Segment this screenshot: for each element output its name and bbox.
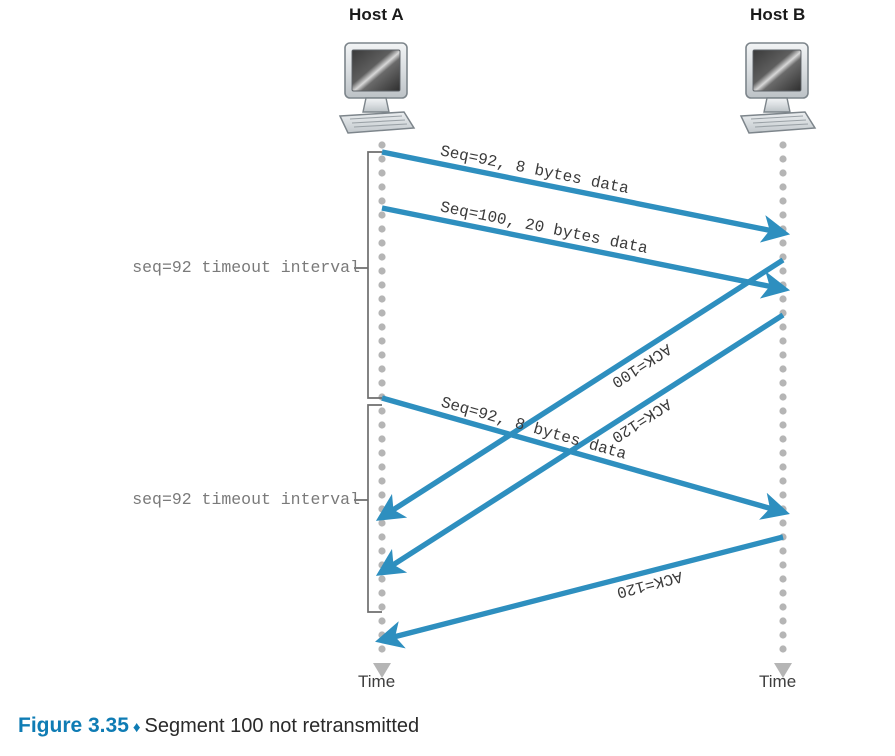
sequence-diagram bbox=[0, 0, 895, 756]
figure-title: Segment 100 not retransmitted bbox=[145, 715, 420, 737]
figure-caption: Figure 3.35♦Segment 100 not retransmitte… bbox=[18, 714, 419, 738]
timeout-interval-label-1: seq=92 timeout interval bbox=[70, 258, 360, 277]
host-b-title: Host B bbox=[750, 5, 805, 25]
host-a-computer-icon bbox=[340, 43, 414, 133]
diamond-icon: ♦ bbox=[129, 719, 145, 736]
timeout-brackets bbox=[354, 152, 382, 612]
message-arrows bbox=[382, 152, 783, 638]
timeout-interval-label-2: seq=92 timeout interval bbox=[70, 490, 360, 509]
host-b-time-label: Time bbox=[759, 672, 796, 692]
host-a-time-label: Time bbox=[358, 672, 395, 692]
figure-number: Figure 3.35 bbox=[18, 714, 129, 737]
figure-container: Host A Host B Time Time seq=92 timeout i… bbox=[0, 0, 895, 756]
host-a-title: Host A bbox=[349, 5, 404, 25]
host-b-computer-icon bbox=[741, 43, 815, 133]
